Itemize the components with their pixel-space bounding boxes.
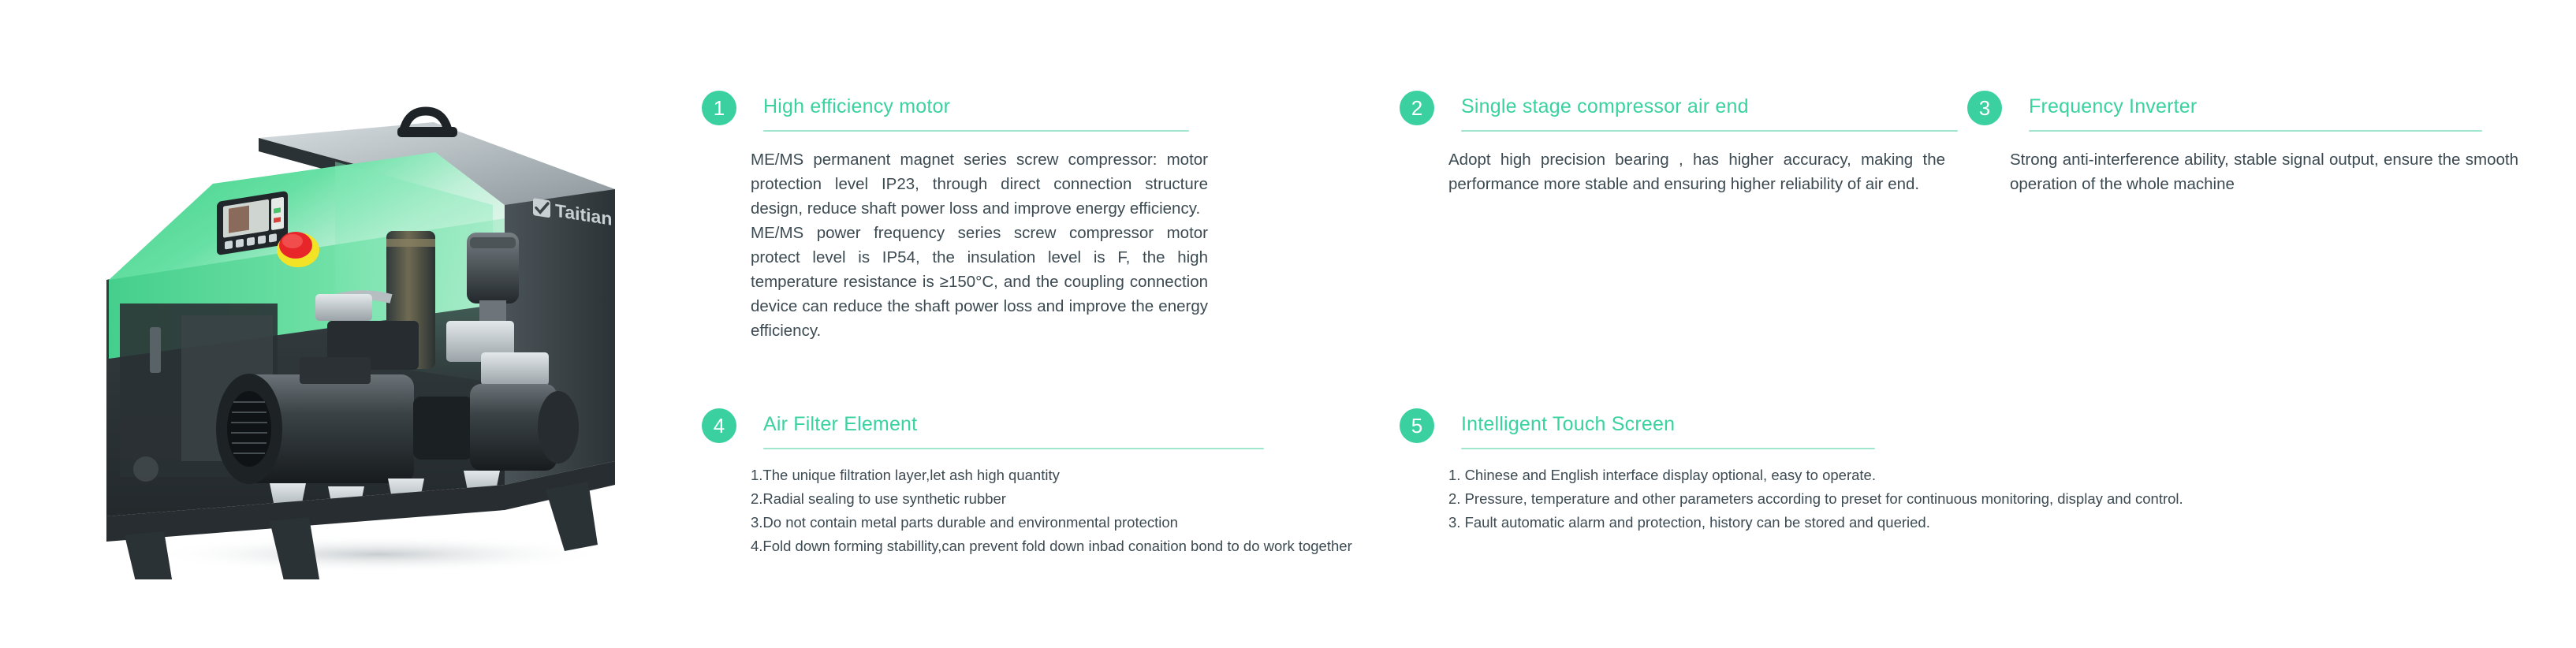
list-item: 3. Fault automatic alarm and protection,…: [1448, 511, 2198, 534]
feature-header-4: 4 Air Filter Element: [702, 408, 1285, 456]
feature-body-3: Strong anti-interference ability, stable…: [2010, 147, 2518, 196]
feature-underline-2: [1461, 130, 1958, 132]
list-item: 2. Pressure, temperature and other param…: [1448, 487, 2198, 511]
feature-block-3: 3 Frequency Inverter Strong anti-interfe…: [1967, 91, 2519, 138]
feature-title-5: Intelligent Touch Screen: [1461, 413, 1675, 436]
feature-header-3: 3 Frequency Inverter: [1967, 91, 2519, 138]
feature-block-4: 4 Air Filter Element 1.The unique filtra…: [702, 408, 1285, 456]
motor-terminal-box: [300, 357, 371, 384]
feature-body-2: Adopt high precision bearing , has highe…: [1448, 147, 1945, 196]
product-image: Taitian: [63, 43, 694, 579]
list-item: 1.The unique filtration layer,let ash hi…: [751, 464, 1295, 487]
feature-paragraph: ME/MS permanent magnet series screw comp…: [751, 147, 1208, 221]
feature-underline-3: [2029, 130, 2482, 132]
leg-right: [546, 482, 598, 551]
air-filter-ribs: [470, 237, 516, 248]
list-item: 1. Chinese and English interface display…: [1448, 464, 2198, 487]
feature-header-2: 2 Single stage compressor air end: [1400, 91, 1952, 138]
feature-title-1: High efficiency motor: [763, 95, 950, 118]
feature-paragraph: Adopt high precision bearing , has highe…: [1448, 147, 1945, 196]
feature-block-5: 5 Intelligent Touch Screen 1. Chinese an…: [1400, 408, 2157, 456]
vent-port: [133, 456, 158, 482]
air-filter-neck: [479, 300, 506, 324]
feature-badge-5: 5: [1400, 408, 1434, 443]
feature-badge-4: 4: [702, 408, 736, 443]
feature-header-5: 5 Intelligent Touch Screen: [1400, 408, 2157, 456]
feature-block-2: 2 Single stage compressor air end Adopt …: [1400, 91, 1952, 138]
pipe-flange: [315, 294, 372, 321]
feature-header-1: 1 High efficiency motor: [702, 91, 1206, 138]
feature-body-5: 1. Chinese and English interface display…: [1448, 464, 2198, 534]
feature-underline-1: [763, 130, 1189, 132]
list-item: 3.Do not contain metal parts durable and…: [751, 511, 1295, 534]
feature-badge-3: 3: [1967, 91, 2002, 125]
feature-title-3: Frequency Inverter: [2029, 95, 2197, 118]
feature-badge-1: 1: [702, 91, 736, 125]
handle-base: [397, 127, 457, 137]
feature-sheet-page: Taitian: [0, 0, 2576, 648]
feature-paragraph: ME/MS power frequency series screw compr…: [751, 221, 1208, 343]
feature-paragraph: Strong anti-interference ability, stable…: [2010, 147, 2518, 196]
feature-underline-4: [763, 448, 1264, 449]
emergency-stop-highlight: [282, 234, 303, 248]
valve-block-2: [481, 352, 549, 385]
product-shadow: [150, 535, 607, 573]
list-item: 2.Radial sealing to use synthetic rubber: [751, 487, 1295, 511]
feature-body-4: 1.The unique filtration layer,let ash hi…: [751, 464, 1295, 558]
screen-status-strip: [271, 197, 284, 231]
leg-left: [125, 531, 175, 579]
feature-underline-5: [1461, 448, 1875, 449]
coupling-shroud: [413, 397, 473, 460]
feature-title-4: Air Filter Element: [763, 413, 917, 436]
air-end-rotor-cap: [538, 391, 579, 464]
vent-latch: [150, 327, 161, 373]
tank-band: [386, 239, 435, 247]
feature-badge-2: 2: [1400, 91, 1434, 125]
touch-screen-image: [229, 206, 249, 233]
feature-body-1: ME/MS permanent magnet series screw comp…: [751, 147, 1208, 343]
list-item: 4.Fold down forming stabillity,can preve…: [751, 534, 1295, 558]
feature-title-2: Single stage compressor air end: [1461, 95, 1749, 118]
feature-block-1: 1 High efficiency motor ME/MS permanent …: [702, 91, 1206, 138]
